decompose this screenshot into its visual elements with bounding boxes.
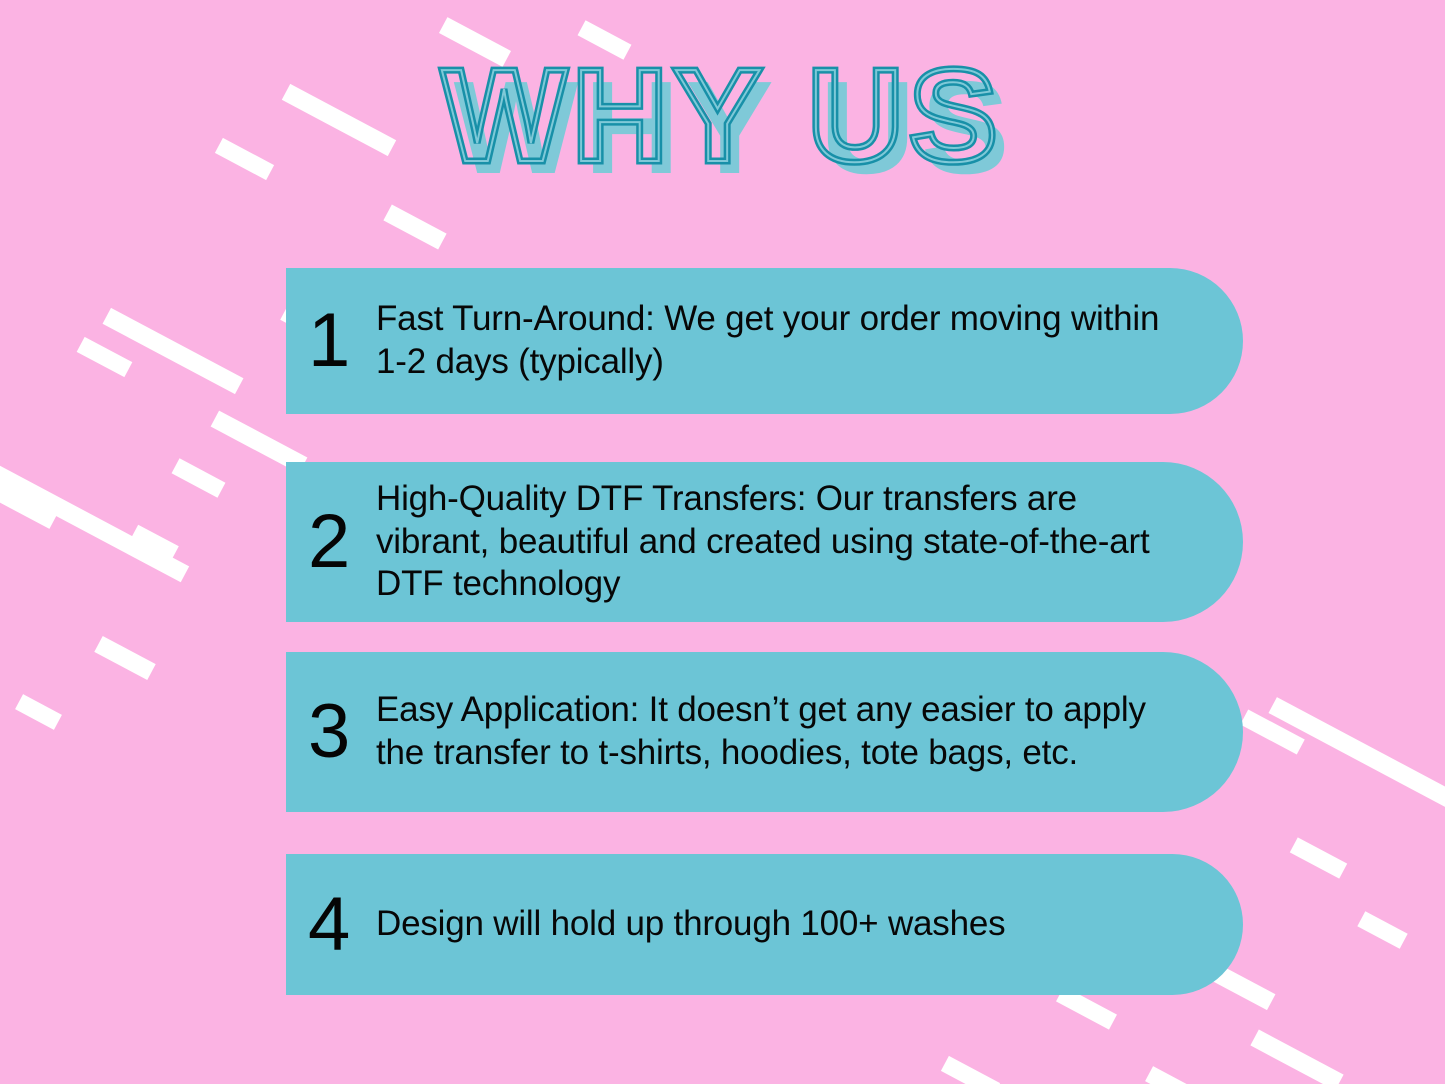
- benefit-card: 1 Fast Turn-Around: We get your order mo…: [286, 268, 1243, 414]
- benefit-card: 2 High-Quality DTF Transfers: Our transf…: [286, 462, 1243, 622]
- decorative-dash: [941, 1056, 1000, 1084]
- benefit-card-text: Design will hold up through 100+ washes: [376, 903, 1183, 946]
- decorative-dash: [103, 308, 244, 394]
- benefit-card-text: High-Quality DTF Transfers: Our transfer…: [376, 478, 1183, 606]
- decorative-dash: [130, 525, 179, 562]
- benefit-card-number: 3: [308, 694, 376, 770]
- decorative-dash: [1357, 911, 1407, 949]
- decorative-dash: [0, 481, 57, 529]
- decorative-dash: [1290, 837, 1347, 878]
- decorative-dash: [94, 636, 155, 680]
- decorative-dash: [1268, 697, 1445, 807]
- page-title: WHY US WHY US WHY US: [0, 46, 1445, 186]
- decorative-dash: [77, 337, 133, 377]
- benefit-card-number: 4: [308, 887, 376, 963]
- benefit-card-number: 2: [308, 504, 376, 580]
- why-us-poster: WHY US WHY US WHY US 1 Fast Turn-Around:…: [0, 0, 1445, 1084]
- benefit-card: 3 Easy Application: It doesn’t get any e…: [286, 652, 1243, 812]
- decorative-dash: [1240, 709, 1304, 754]
- decorative-dash: [383, 204, 446, 249]
- decorative-dash: [172, 458, 226, 497]
- decorative-dash: [15, 694, 62, 730]
- decorative-dash: [1145, 1066, 1192, 1084]
- title-inner-line-layer: WHY US: [0, 46, 1445, 186]
- benefit-card: 4 Design will hold up through 100+ washe…: [286, 854, 1243, 995]
- decorative-dash: [0, 454, 189, 583]
- benefit-card-number: 1: [308, 303, 376, 379]
- decorative-dash: [1250, 1030, 1343, 1084]
- benefit-card-text: Fast Turn-Around: We get your order movi…: [376, 298, 1183, 383]
- benefit-card-text: Easy Application: It doesn’t get any eas…: [376, 689, 1183, 774]
